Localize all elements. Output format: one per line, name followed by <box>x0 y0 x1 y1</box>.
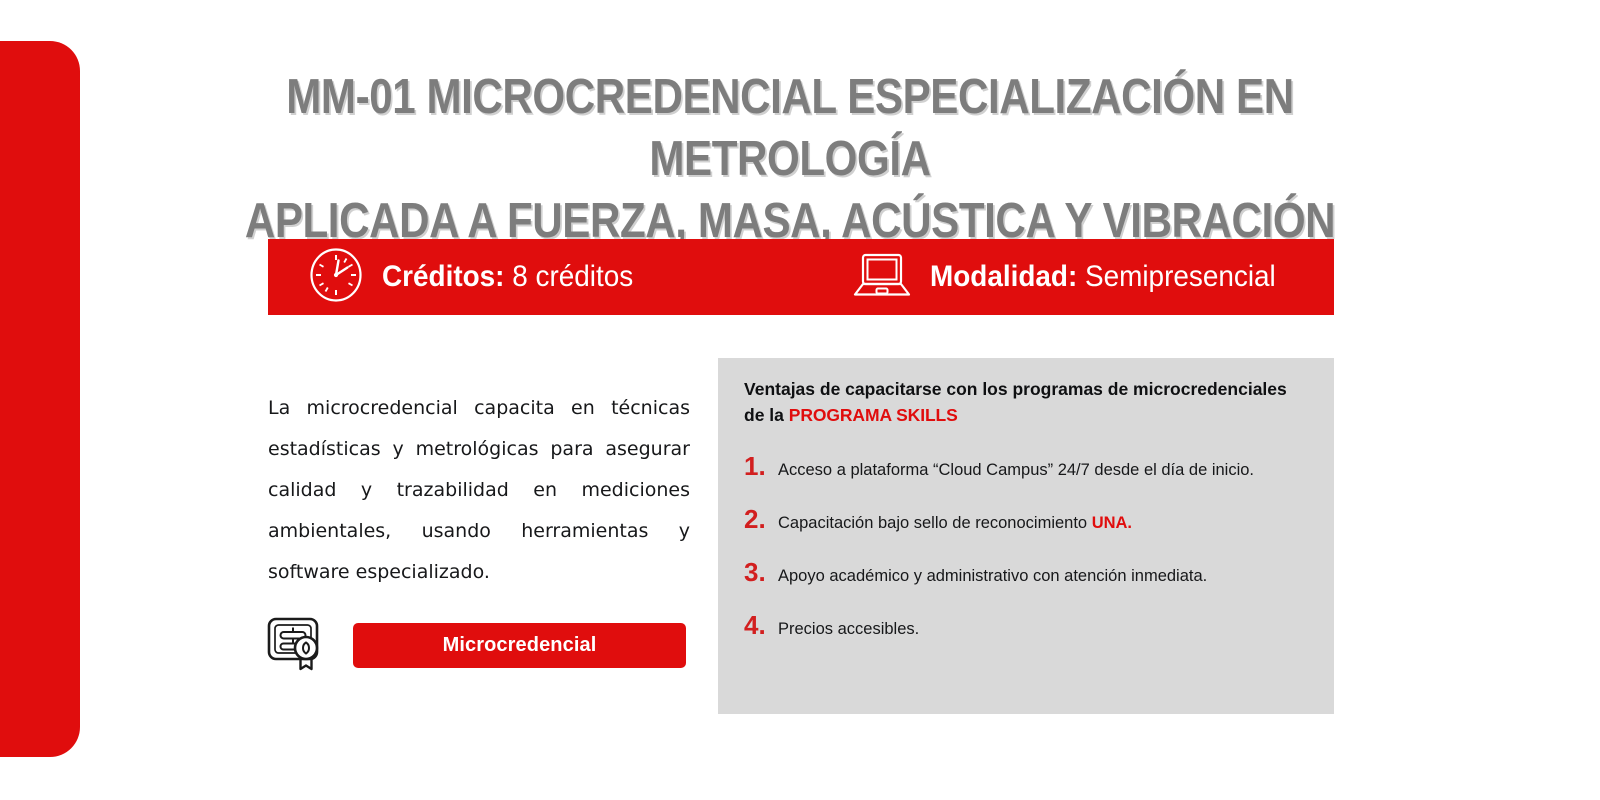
modality-value: Semipresencial <box>1077 260 1275 293</box>
list-item-text: Apoyo académico y administrativo con ate… <box>778 566 1207 586</box>
list-item-text-prefix: Capacitación bajo sello de reconocimient… <box>778 514 1092 532</box>
credits-label: Créditos: <box>382 260 504 293</box>
description-paragraph: La microcredencial capacita en técnicas … <box>268 388 690 593</box>
list-item: 3. Apoyo académico y administrativo con … <box>744 562 1308 586</box>
clock-icon <box>308 247 364 307</box>
list-item-text: Precios accesibles. <box>778 619 919 639</box>
list-item-number: 1. <box>744 456 778 476</box>
list-item-text-prefix: Precios accesibles. <box>778 620 919 638</box>
list-item-text-prefix: Apoyo académico y administrativo con ate… <box>778 567 1207 585</box>
list-item-text: Acceso a plataforma “Cloud Campus” 24/7 … <box>778 460 1254 480</box>
banner-item-credits: Créditos: 8 créditos <box>308 247 652 307</box>
advantages-heading: Ventajas de capacitarse con los programa… <box>744 376 1308 428</box>
credits-text: Créditos: 8 créditos <box>382 261 633 293</box>
badge-row: Microcredencial <box>264 612 694 678</box>
header: MM-01 MICROCREDENCIAL ESPECIALIZACIÓN EN… <box>110 66 1470 252</box>
banner-item-modality: Modalidad: Semipresencial <box>852 249 1302 305</box>
page-title: MM-01 MICROCREDENCIAL ESPECIALIZACIÓN EN… <box>205 66 1375 252</box>
certificate-seal-icon <box>264 612 326 678</box>
advantages-panel: Ventajas de capacitarse con los programa… <box>718 358 1334 714</box>
left-red-accent-bar <box>0 41 80 757</box>
credits-value: 8 créditos <box>504 260 633 293</box>
list-item-number: 3. <box>744 562 778 582</box>
advantages-list: 1. Acceso a plataforma “Cloud Campus” 24… <box>744 456 1308 639</box>
list-item-text-prefix: Acceso a plataforma “Cloud Campus” 24/7 … <box>778 461 1254 479</box>
list-item-number: 4. <box>744 615 778 635</box>
advantages-heading-brand: PROGRAMA SKILLS <box>789 405 958 425</box>
info-banner: Créditos: 8 créditos Modalidad: Semipres… <box>268 239 1334 315</box>
list-item-number: 2. <box>744 509 778 529</box>
description-column: La microcredencial capacita en técnicas … <box>268 388 690 593</box>
laptop-icon <box>852 249 912 305</box>
list-item: 4. Precios accesibles. <box>744 615 1308 639</box>
list-item: 2. Capacitación bajo sello de reconocimi… <box>744 509 1308 533</box>
list-item-text: Capacitación bajo sello de reconocimient… <box>778 513 1132 533</box>
list-item-text-brand: UNA. <box>1092 514 1132 532</box>
modality-text: Modalidad: Semipresencial <box>930 261 1276 293</box>
microcredencial-button[interactable]: Microcredencial <box>353 623 686 668</box>
modality-label: Modalidad: <box>930 260 1077 293</box>
list-item: 1. Acceso a plataforma “Cloud Campus” 24… <box>744 456 1308 480</box>
